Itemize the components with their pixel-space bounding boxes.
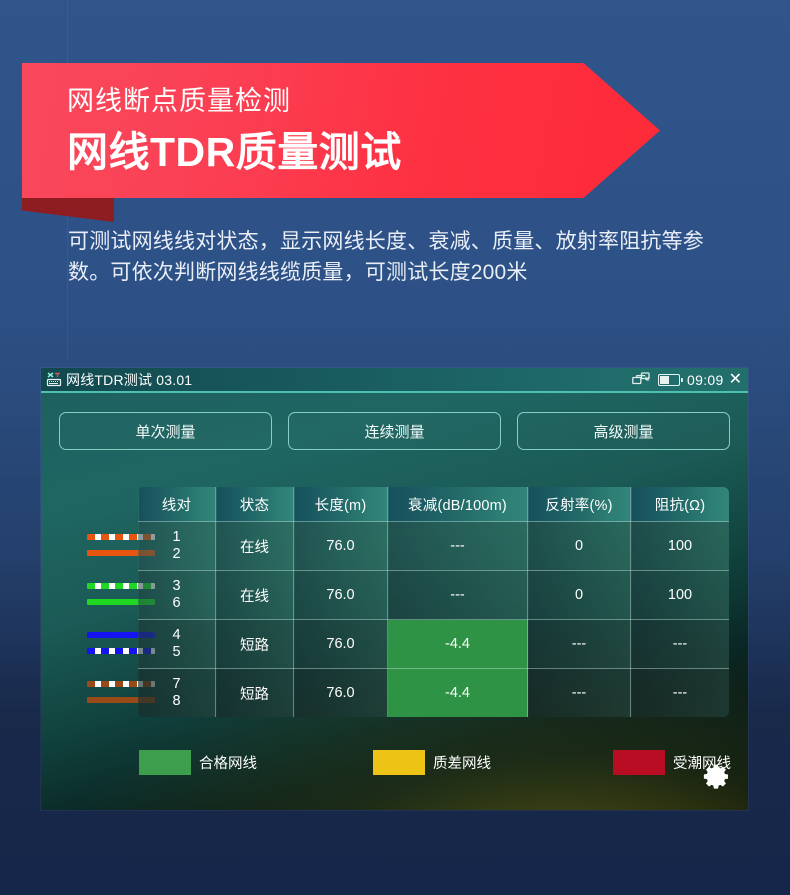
cell-reflection: ---	[528, 620, 631, 669]
cell-impedance: ---	[631, 620, 730, 669]
measure-mode-bar: 单次测量 连续测量 高级测量	[41, 393, 748, 450]
legend-item-pass: 合格网线	[139, 750, 257, 775]
legend-item-poor: 质差网线	[373, 750, 491, 775]
status-bar: 网线TDR测试 03.01 09:09 ✕	[41, 368, 748, 393]
col-header-impedance: 阻抗(Ω)	[631, 487, 730, 522]
cell-pair: 1 2	[138, 522, 216, 571]
cell-state: 在线	[216, 571, 294, 620]
app-title: 网线TDR测试 03.01	[66, 370, 192, 390]
cell-state: 短路	[216, 620, 294, 669]
legend-label-pass: 合格网线	[199, 752, 257, 773]
cell-attenuation: -4.4	[388, 620, 528, 669]
legend-swatch-poor	[373, 750, 425, 775]
hero-banner-subtitle: 网线断点质量检测	[67, 79, 291, 118]
col-header-length: 长度(m)	[294, 487, 388, 522]
cell-pair: 7 8	[138, 669, 216, 718]
status-bar-right: 09:09 ✕	[632, 372, 742, 388]
cell-reflection: 0	[528, 571, 631, 620]
close-icon[interactable]: ✕	[729, 372, 742, 388]
col-header-attenuation: 衰减(dB/100m)	[388, 487, 528, 522]
hero-banner-fold	[22, 198, 114, 222]
cell-state: 短路	[216, 669, 294, 718]
col-header-state: 状态	[216, 487, 294, 522]
quality-legend: 合格网线 质差网线 受潮网线	[139, 750, 731, 775]
cell-attenuation: -4.4	[388, 669, 528, 718]
network-link-icon	[632, 372, 651, 388]
table-row[interactable]: 4 5 短路 76.0 -4.4 --- ---	[138, 620, 730, 669]
col-header-pair: 线对	[138, 487, 216, 522]
pair-number-bottom: 6	[138, 595, 215, 612]
table-header-row: 线对 状态 长度(m) 衰减(dB/100m) 反射率(%) 阻抗(Ω)	[138, 487, 730, 522]
table-row[interactable]: 1 2 在线 76.0 --- 0 100	[138, 522, 730, 571]
cell-reflection: 0	[528, 522, 631, 571]
pair-number-bottom: 5	[138, 644, 215, 661]
mode-button-continuous[interactable]: 连续测量	[288, 412, 501, 450]
gear-icon[interactable]	[701, 760, 731, 790]
hero-banner: 网线断点质量检测 网线TDR质量测试	[22, 63, 660, 198]
pair-number-top: 4	[138, 627, 215, 644]
pair-number-bottom: 8	[138, 693, 215, 710]
cell-length: 76.0	[294, 620, 388, 669]
mode-button-single[interactable]: 单次测量	[59, 412, 272, 450]
cell-length: 76.0	[294, 571, 388, 620]
table-row[interactable]: 3 6 在线 76.0 --- 0 100	[138, 571, 730, 620]
cell-length: 76.0	[294, 669, 388, 718]
results-table-wrapper: 线对 状态 长度(m) 衰减(dB/100m) 反射率(%) 阻抗(Ω) 1 2…	[137, 486, 729, 718]
pair-number-top: 7	[138, 676, 215, 693]
hero-description: 可测试网线线对状态，显示网线长度、衰减、质量、放射率阻抗等参数。可依次判断网线线…	[68, 226, 728, 288]
pair-number-top: 1	[138, 529, 215, 546]
cell-impedance: 100	[631, 571, 730, 620]
legend-label-poor: 质差网线	[433, 752, 491, 773]
clock-time: 09:09	[687, 372, 724, 388]
cell-impedance: ---	[631, 669, 730, 718]
cell-attenuation: ---	[388, 571, 528, 620]
legend-swatch-pass	[139, 750, 191, 775]
cell-pair: 3 6	[138, 571, 216, 620]
results-table: 线对 状态 长度(m) 衰减(dB/100m) 反射率(%) 阻抗(Ω) 1 2…	[137, 486, 730, 718]
battery-icon	[658, 374, 680, 386]
pair-number-bottom: 2	[138, 546, 215, 563]
cell-pair: 4 5	[138, 620, 216, 669]
table-body: 1 2 在线 76.0 --- 0 100 3 6 在线 76.0	[138, 522, 730, 718]
col-header-reflection: 反射率(%)	[528, 487, 631, 522]
cell-length: 76.0	[294, 522, 388, 571]
device-screen: 网线TDR测试 03.01 09:09 ✕ 单次测量 连续测量 高级测量	[41, 368, 748, 810]
cell-reflection: ---	[528, 669, 631, 718]
pair-number-top: 3	[138, 578, 215, 595]
hero-banner-title: 网线TDR质量测试	[67, 118, 402, 178]
cable-tester-icon	[46, 371, 63, 388]
cell-state: 在线	[216, 522, 294, 571]
table-row[interactable]: 7 8 短路 76.0 -4.4 --- ---	[138, 669, 730, 718]
cell-attenuation: ---	[388, 522, 528, 571]
cell-impedance: 100	[631, 522, 730, 571]
table-header: 线对 状态 长度(m) 衰减(dB/100m) 反射率(%) 阻抗(Ω)	[138, 487, 730, 522]
legend-swatch-damp	[613, 750, 665, 775]
mode-button-advanced[interactable]: 高级测量	[517, 412, 730, 450]
